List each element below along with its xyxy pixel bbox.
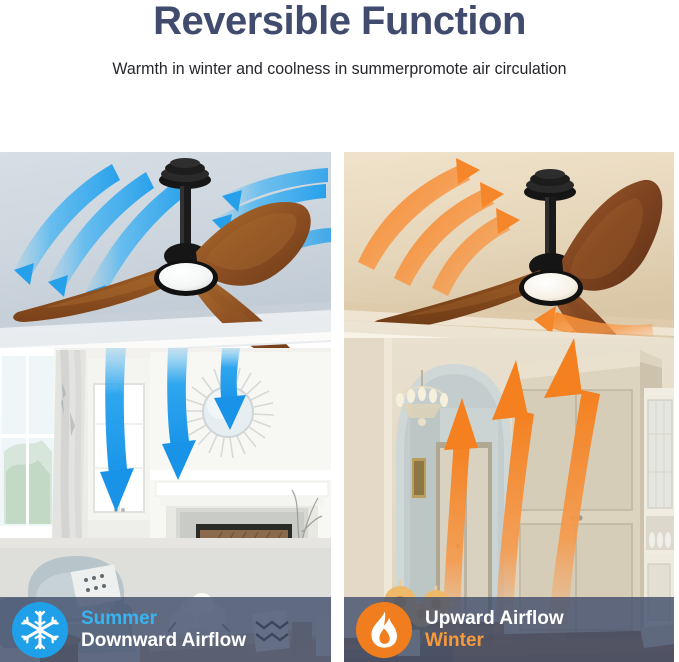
winter-banner: Upward Airflow Winter [344, 597, 674, 662]
winter-banner-text: Upward Airflow Winter [425, 608, 564, 651]
snowflake-icon [12, 602, 68, 658]
summer-panel: Summer Downward Airflow [0, 152, 331, 662]
winter-scene [344, 152, 674, 662]
summer-banner: Summer Downward Airflow [0, 597, 331, 662]
winter-panel: Upward Airflow Winter [344, 152, 674, 662]
winter-banner-line2: Winter [425, 630, 564, 651]
summer-banner-text: Summer Downward Airflow [81, 608, 246, 651]
snowflake-glyph [18, 608, 62, 652]
page-subtitle: Warmth in winter and coolness in summerp… [20, 58, 658, 80]
product-feature-image: Reversible Function Warmth in winter and… [0, 0, 679, 662]
panels-container: Summer Downward Airflow [0, 152, 679, 662]
summer-banner-line2: Downward Airflow [81, 630, 246, 651]
flame-icon [356, 602, 412, 658]
page-title: Reversible Function [0, 0, 679, 44]
summer-scene [0, 152, 331, 662]
flame-glyph [362, 608, 406, 652]
summer-banner-line1: Summer [81, 608, 246, 629]
winter-banner-line1: Upward Airflow [425, 608, 564, 629]
